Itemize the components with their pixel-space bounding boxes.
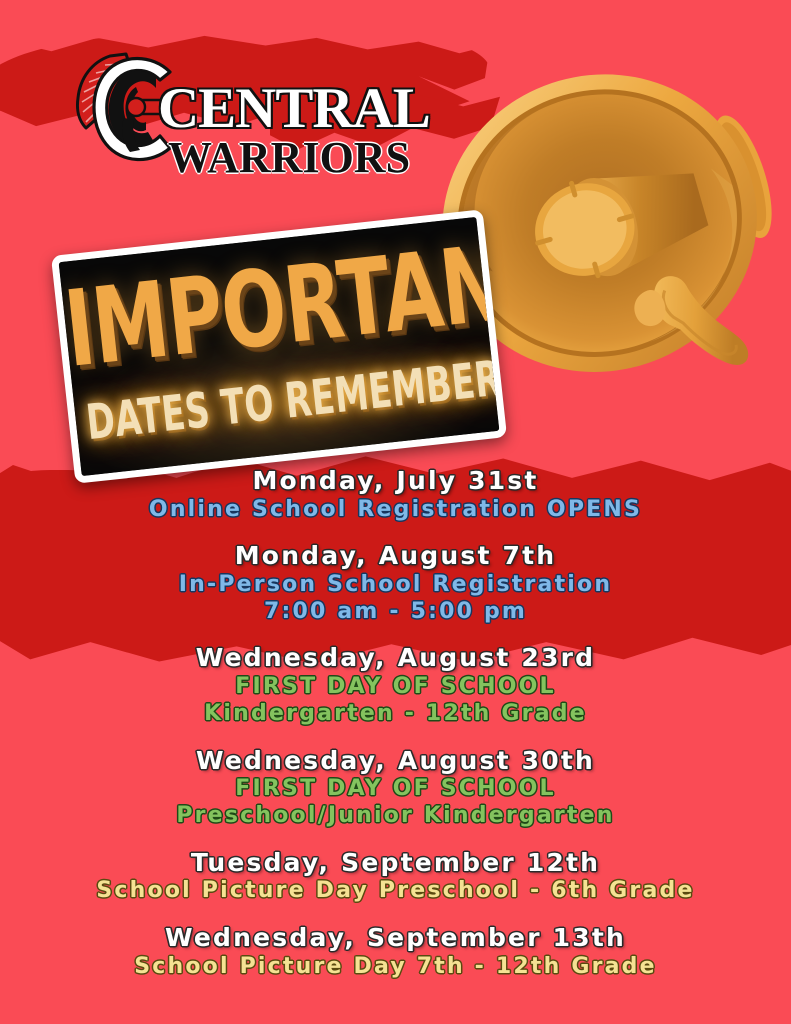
date-detail-line: FIRST DAY OF SCHOOL bbox=[0, 674, 791, 701]
date-heading: Monday, July 31st bbox=[0, 466, 791, 497]
dates-list: Monday, July 31stOnline School Registrat… bbox=[0, 466, 791, 998]
date-entry: Wednesday, September 13thSchool Picture … bbox=[0, 923, 791, 980]
date-detail-line: Preschool/Junior Kindergarten bbox=[0, 803, 791, 830]
important-dates-banner: IMPORTANT DATES TO REMEMBER bbox=[51, 209, 507, 484]
date-heading: Wednesday, August 30th bbox=[0, 746, 791, 777]
flyer-poster: CENTRAL WARRIORS bbox=[0, 0, 791, 1024]
date-detail-line: FIRST DAY OF SCHOOL bbox=[0, 776, 791, 803]
date-detail-line: School Picture Day 7th - 12th Grade bbox=[0, 954, 791, 981]
date-detail-line: School Picture Day Preschool - 6th Grade bbox=[0, 878, 791, 905]
date-heading: Wednesday, September 13th bbox=[0, 923, 791, 954]
date-detail-line: Online School Registration OPENS bbox=[0, 497, 791, 524]
date-entry: Wednesday, August 23rdFIRST DAY OF SCHOO… bbox=[0, 643, 791, 727]
date-detail-line: Kindergarten - 12th Grade bbox=[0, 701, 791, 728]
date-heading: Wednesday, August 23rd bbox=[0, 643, 791, 674]
date-entry: Monday, August 7thIn-Person School Regis… bbox=[0, 541, 791, 625]
logo-text-warriors: WARRIORS bbox=[168, 136, 410, 180]
date-entry: Wednesday, August 30thFIRST DAY OF SCHOO… bbox=[0, 746, 791, 830]
date-detail-line: 7:00 am - 5:00 pm bbox=[0, 599, 791, 626]
central-warriors-logo: CENTRAL WARRIORS bbox=[72, 48, 402, 193]
date-entry: Tuesday, September 12thSchool Picture Da… bbox=[0, 848, 791, 905]
date-detail-line: In-Person School Registration bbox=[0, 572, 791, 599]
date-heading: Tuesday, September 12th bbox=[0, 848, 791, 879]
date-entry: Monday, July 31stOnline School Registrat… bbox=[0, 466, 791, 523]
date-heading: Monday, August 7th bbox=[0, 541, 791, 572]
banner-inner-panel: IMPORTANT DATES TO REMEMBER bbox=[59, 217, 500, 476]
logo-text-central: CENTRAL bbox=[158, 80, 430, 137]
